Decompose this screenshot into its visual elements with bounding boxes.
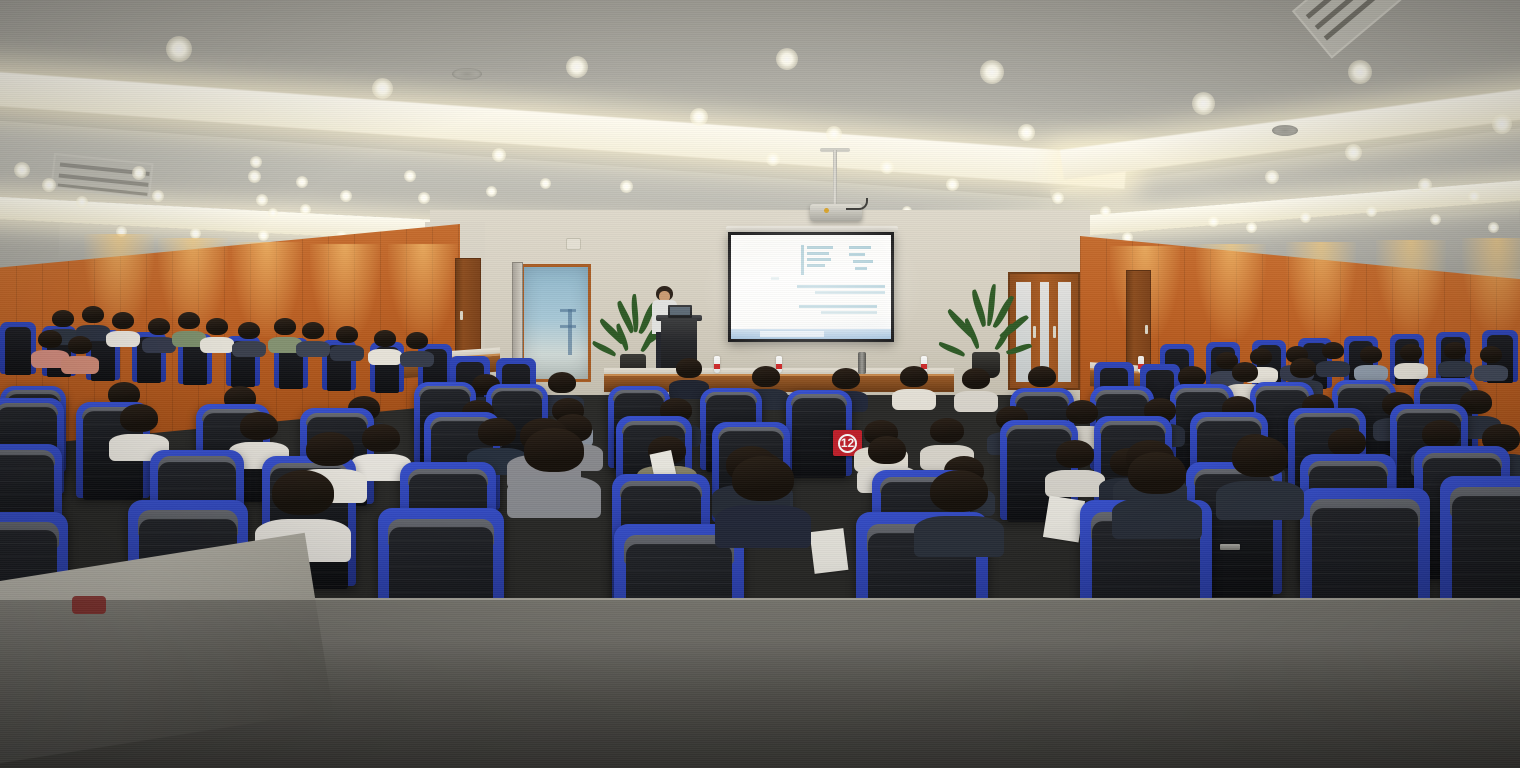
audience-member bbox=[732, 456, 794, 524]
ceiling-downlight bbox=[1192, 92, 1215, 115]
audience-member bbox=[930, 418, 964, 456]
ceiling-downlight bbox=[256, 194, 268, 206]
ceiling-downlight bbox=[300, 204, 311, 215]
door-handle[interactable] bbox=[460, 311, 463, 320]
ceiling-downlight bbox=[1345, 144, 1362, 161]
wall-light-wash bbox=[1196, 244, 1266, 339]
audience-member bbox=[336, 326, 358, 352]
ceiling-downlight bbox=[880, 160, 894, 174]
ceiling-downlight bbox=[946, 178, 959, 191]
ceiling-downlight bbox=[1468, 190, 1480, 202]
audience-member bbox=[374, 330, 396, 356]
ceiling-smoke-detector-left bbox=[452, 68, 482, 80]
audience-member bbox=[676, 358, 702, 388]
ceiling-downlight bbox=[1348, 60, 1372, 84]
ceiling-downlight bbox=[76, 196, 88, 208]
chair-nameplate bbox=[1220, 544, 1240, 550]
ceiling-downlight bbox=[1418, 178, 1432, 192]
audience-member bbox=[240, 412, 278, 454]
wall-light-wash bbox=[1376, 240, 1446, 335]
audience-member bbox=[274, 318, 296, 344]
ceiling-downlight bbox=[1492, 114, 1512, 134]
ceiling-downlight bbox=[14, 162, 30, 178]
ceiling-downlight bbox=[1488, 222, 1499, 233]
ceiling-downlight bbox=[620, 180, 633, 193]
handout-paper bbox=[810, 528, 849, 574]
ceiling-downlight bbox=[1246, 222, 1257, 233]
presenter-laptop bbox=[668, 305, 692, 318]
audience-member bbox=[406, 332, 428, 358]
wall-light-wash bbox=[388, 244, 458, 339]
slide-taskbar-item bbox=[760, 331, 824, 337]
ceiling-downlight bbox=[404, 170, 416, 182]
ceiling-downlight bbox=[250, 156, 262, 168]
audience-member bbox=[962, 368, 990, 400]
ceiling-downlight bbox=[1208, 216, 1219, 227]
ceiling-downlight bbox=[1018, 124, 1035, 141]
ceiling-downlight bbox=[268, 208, 278, 218]
ceiling-downlight bbox=[258, 230, 269, 241]
audience-member bbox=[68, 336, 92, 364]
audience-member bbox=[1400, 344, 1422, 370]
ceiling-downlight bbox=[152, 190, 164, 202]
audience-member bbox=[38, 330, 62, 358]
projector-mount-pole bbox=[833, 150, 837, 206]
audience-member bbox=[82, 306, 104, 332]
projection-screen-surface bbox=[731, 235, 891, 339]
ceiling-downlight bbox=[1265, 170, 1279, 184]
ceiling-downlight bbox=[690, 108, 708, 126]
ceiling-downlight bbox=[980, 60, 1004, 84]
slide-rule-line bbox=[799, 305, 877, 308]
audience-member bbox=[1232, 436, 1288, 498]
wall-speaker-box bbox=[566, 238, 581, 250]
ceiling-downlight bbox=[566, 56, 588, 78]
slide-taskbar bbox=[731, 329, 891, 339]
slide-rule-line bbox=[815, 291, 885, 294]
audience-member bbox=[1360, 346, 1382, 372]
ceiling-downlight bbox=[132, 166, 146, 180]
audience-member bbox=[1322, 342, 1344, 368]
slide-table-graphic bbox=[801, 245, 885, 279]
ceiling-downlight bbox=[1300, 212, 1311, 223]
audience-member bbox=[148, 318, 170, 344]
slide-rule-line bbox=[771, 277, 779, 280]
corridor-railing bbox=[560, 325, 576, 328]
ceiling-downlight bbox=[766, 152, 780, 166]
ceiling-downlight bbox=[492, 148, 506, 162]
door-glass-panel bbox=[1058, 282, 1071, 382]
ceiling-downlight bbox=[248, 170, 261, 183]
projector-indicator-led bbox=[824, 208, 829, 213]
audience-member bbox=[1444, 342, 1466, 368]
ceiling-downlight bbox=[166, 36, 192, 62]
handout-paper bbox=[1043, 495, 1085, 542]
ceiling-downlight bbox=[372, 78, 393, 99]
door-handle[interactable] bbox=[1033, 326, 1036, 338]
audience-member bbox=[1128, 452, 1186, 516]
floor-shadow-overlay bbox=[0, 600, 1520, 768]
wall-light-wash bbox=[1286, 242, 1356, 337]
door-handle[interactable] bbox=[1145, 325, 1148, 334]
ceiling-downlight bbox=[42, 178, 56, 192]
audience-member bbox=[272, 470, 334, 538]
ceiling-downlight bbox=[418, 192, 430, 204]
slide-rule-line bbox=[821, 311, 877, 314]
door-handle[interactable] bbox=[1053, 326, 1056, 338]
audience-member bbox=[930, 470, 988, 534]
ceiling-downlight bbox=[296, 176, 308, 188]
audience-member bbox=[238, 322, 260, 348]
ceiling-downlight bbox=[1430, 214, 1441, 225]
floor-object-bag bbox=[72, 596, 106, 614]
ceiling-downlight bbox=[826, 126, 842, 142]
ceiling-downlight bbox=[340, 190, 352, 202]
projection-screen bbox=[728, 232, 894, 342]
wall-light-wash bbox=[1462, 238, 1520, 333]
audience-member bbox=[900, 366, 928, 398]
water-bottle bbox=[714, 356, 720, 373]
audience-member bbox=[120, 404, 158, 446]
audience-member bbox=[362, 424, 400, 466]
ceiling-downlight bbox=[1052, 192, 1064, 204]
auditorium-photograph: 12 bbox=[0, 0, 1520, 768]
ceiling-downlight bbox=[776, 48, 798, 70]
ceiling-downlight bbox=[1100, 206, 1111, 217]
ceiling-downlight bbox=[540, 178, 551, 189]
audience-member bbox=[1056, 440, 1094, 482]
audience-member bbox=[478, 418, 516, 460]
audience-member bbox=[1480, 346, 1502, 372]
ceiling-smoke-detector-right bbox=[1272, 125, 1298, 136]
corridor-railing bbox=[568, 309, 572, 355]
row-number-text: 12 bbox=[838, 434, 857, 453]
slide-rule-line bbox=[797, 285, 885, 288]
ceiling-downlight bbox=[1366, 206, 1377, 217]
audience-member bbox=[178, 312, 200, 338]
corridor-railing bbox=[560, 309, 576, 312]
audience-member bbox=[206, 318, 228, 344]
ceiling-downlight bbox=[486, 186, 497, 197]
audience-member bbox=[302, 322, 324, 348]
audience-member bbox=[524, 428, 584, 494]
laptop-screen bbox=[670, 307, 690, 315]
audience-member bbox=[112, 312, 134, 338]
